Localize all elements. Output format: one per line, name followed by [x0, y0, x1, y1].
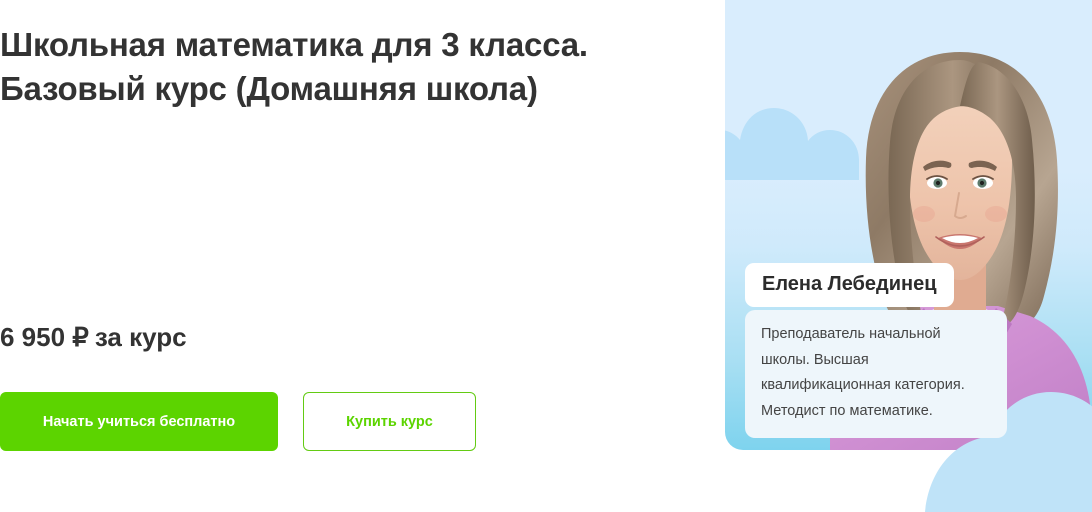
start-free-button[interactable]: Начать учиться бесплатно	[0, 392, 278, 451]
teacher-name-badge: Елена Лебединец	[745, 263, 954, 307]
cta-button-group: Начать учиться бесплатно Купить курс	[0, 392, 476, 451]
price-unit-label: за курс	[95, 322, 187, 352]
price-amount: 6 950 ₽	[0, 322, 89, 352]
teacher-bio-card: Преподаватель начальной школы. Высшая кв…	[745, 310, 1007, 438]
page-title-line-2: Базовый курс (Домашняя школа)	[0, 67, 660, 111]
course-price: 6 950 ₽за курс	[0, 320, 187, 354]
course-info-column: Школьная математика для 3 класса. Базовы…	[0, 0, 700, 473]
page-title: Школьная математика для 3 класса. Базовы…	[0, 23, 660, 111]
page-title-line-1: Школьная математика для 3 класса.	[0, 23, 660, 67]
buy-course-button[interactable]: Купить курс	[303, 392, 476, 451]
course-hero-banner: Школьная математика для 3 класса. Базовы…	[0, 0, 1092, 473]
